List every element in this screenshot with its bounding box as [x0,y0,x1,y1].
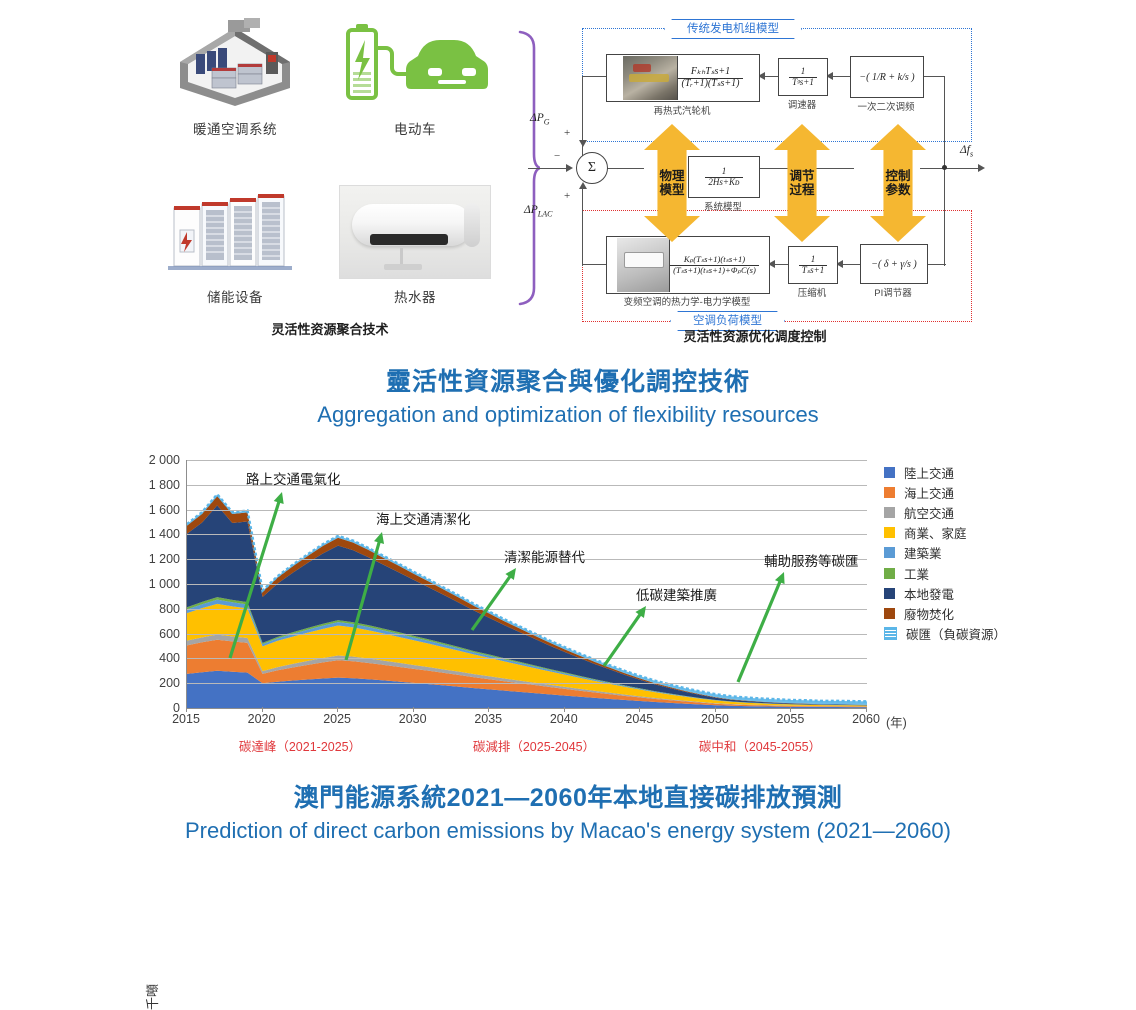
legend-swatch [884,627,897,640]
plot-area [186,460,867,709]
x-axis-tick: 2040 [550,712,578,726]
arrow-line2: 模型 [659,183,684,197]
arrow-line1: 物理 [659,169,684,183]
y-axis-tick: 2 000 [126,453,180,467]
flexibility-resource-panel: 暖通空调系统 电动车 [150,14,510,339]
gridline [187,683,867,684]
legend-swatch [884,547,895,558]
x-axis-tickmark [639,707,640,712]
annotation-low-carbon-building: 低碳建築推廣 [636,584,717,604]
legend-label: 陸上交通 [904,463,954,482]
x-axis-tickmark [337,707,338,712]
resource-label: 暖通空调系统 [150,118,320,138]
legend-label: 航空交通 [904,503,954,522]
x-axis-tick: 2015 [172,712,200,726]
block-numerator: Kₚ(Tₛs+1)(tₛs+1) [670,255,759,264]
legend-swatch [884,507,895,518]
y-axis-tick: 1 800 [126,478,180,492]
y-axis-tick: 1 400 [126,527,180,541]
legend-item-0[interactable]: 陸上交通 [884,462,1084,482]
block-denominator: 2Hs+Kᴅ [705,177,742,187]
x-axis-ticks: 2015202020252030203520402045205020552060 [186,712,886,730]
resource-label: 储能设备 [150,286,320,306]
x-axis-tickmark [413,707,414,712]
block-expression: −( 1/R + k/s ) [859,72,914,83]
block-numerator: 1 [789,67,817,76]
bottom-title-zh: 澳門能源系統2021—2060年本地直接碳排放預測 [0,778,1136,814]
annotation-ancillary-services-carbon-sink: 輔助服務等碳匯 [764,550,859,570]
y-axis-title: 千噸 [142,984,161,1010]
arrow-line1: 调节 [789,169,814,183]
x-axis-tick: 2020 [248,712,276,726]
block-denominator: Tᵍs+1 [789,77,817,87]
y-axis-tick: 200 [126,676,180,690]
x-axis-tickmark [262,707,263,712]
block-compressor: 1 Tₛs+1 [788,246,838,284]
arrow-icon [978,164,985,172]
wire [582,264,608,265]
arrow-line2: 过程 [789,183,814,197]
block-pi-regulator: −( δ + γ/s ) [860,244,928,284]
y-axis-tick: 400 [126,651,180,665]
annotation-marine-transport-cleaning: 海上交通清潔化 [376,508,471,528]
junction-dot [942,165,947,170]
x-axis-tickmark [866,707,867,712]
gridline [187,584,867,585]
block-numerator: 1 [799,255,827,264]
y-axis-ticks: 02004006008001 0001 2001 4001 6001 8002 … [120,460,180,708]
x-axis-tickmark [715,707,716,712]
legend-item-7[interactable]: 廢物焚化 [884,603,1084,623]
y-axis-tick: 1 200 [126,552,180,566]
resource-item-ev: 电动车 [330,14,500,138]
x-axis-tick: 2025 [323,712,351,726]
middle-title: 靈活性資源聚合與優化調控技術 Aggregation and optimizat… [0,362,1136,428]
legend-item-5[interactable]: 工業 [884,563,1084,583]
gridline [187,510,867,511]
block-denominator: Tₛs+1 [799,265,827,275]
resource-item-hvac: 暖通空调系统 [150,14,320,138]
hvac-room-icon [150,14,320,114]
wire [826,76,852,77]
x-axis-tickmark [790,707,791,712]
legend-label: 本地發電 [904,584,954,603]
sigma-symbol: Σ [588,160,596,176]
wire [944,182,945,266]
arrow-icon [579,140,587,147]
annotation-road-transport-electrification: 路上交通電氣化 [246,468,341,488]
x-axis-tick: 2060 [852,712,880,726]
phase-label-carbon-peak: 碳達峰（2021-2025） [239,736,361,755]
wire [606,168,644,169]
legend-swatch [884,568,895,579]
y-axis-tick: 800 [126,602,180,616]
chart-legend: 陸上交通海上交通航空交通商業、家庭建築業工業本地發電廢物焚化碳匯（負碳資源） [884,462,1084,644]
block-denominator: (Tₛs+1)(tₛs+1)+ΦₚC(s) [670,265,759,275]
legend-item-4[interactable]: 建築業 [884,543,1084,563]
x-axis-tick: 2050 [701,712,729,726]
ev-charging-icon [330,14,500,114]
input-label-plac: ΔPLAC [524,204,552,218]
block-denominator: (Tᵣ+1)(Tₛs+1) [678,78,742,90]
legend-item-8[interactable]: 碳匯（負碳資源） [884,624,1084,644]
y-axis-tick: 1 000 [126,577,180,591]
resource-label: 电动车 [330,118,500,138]
legend-swatch [884,588,895,599]
x-axis-tickmark [186,707,187,712]
wire [528,168,568,169]
ac-unit-photo [617,238,670,292]
x-axis-unit: (年) [886,712,907,731]
legend-label: 海上交通 [904,483,954,502]
sign-minus: − [554,150,560,162]
block-numerator: 1 [705,167,742,176]
wire [582,76,608,77]
legend-item-1[interactable]: 海上交通 [884,482,1084,502]
gridline [187,609,867,610]
block-caption: 压缩机 [788,285,836,299]
resource-item-ess: 储能设备 [150,182,320,306]
legend-label: 碳匯（負碳資源） [906,624,1006,643]
x-axis-tickmark [488,707,489,712]
wire [920,168,980,169]
diagram-caption: 灵活性资源优化调度控制 [520,326,990,345]
phase-label-carbon-reduction: 碳減排（2025-2045） [473,736,595,755]
sign-plus-bottom: + [564,190,570,202]
block-caption: 变频空调的热力学-电力学模型 [596,294,778,308]
block-caption: 系统模型 [688,199,758,213]
legend-swatch [884,527,895,538]
legend-label: 建築業 [904,543,942,562]
block-caption: 一次二次调频 [846,99,926,113]
top-illustration-section: 暖通空调系统 电动车 [0,0,1136,345]
wire [768,264,790,265]
x-axis-tick: 2035 [474,712,502,726]
plot-area-wrapper: 路上交通電氣化海上交通清潔化清潔能源替代低碳建築推廣輔助服務等碳匯 [186,460,866,708]
block-numerator: FₖₕTₛs+1 [678,67,742,78]
bottom-title: 澳門能源系統2021—2060年本地直接碳排放預測 Prediction of … [0,778,1136,844]
wire [922,76,944,77]
middle-title-en: Aggregation and optimization of flexibil… [0,402,1136,428]
wire [836,264,862,265]
block-expression: −( δ + γ/s ) [871,259,916,270]
sign-plus-top: + [564,127,570,139]
legend-label: 工業 [904,564,929,583]
resource-panel-caption: 灵活性资源聚合技术 [150,319,510,338]
resource-label: 热水器 [330,286,500,306]
block-caption: 再热式汽轮机 [606,103,758,117]
legend-label: 廢物焚化 [904,604,954,623]
y-axis-tick: 600 [126,627,180,641]
legend-label: 商業、家庭 [904,523,967,542]
block-vrf-ac-model: Kₚ(Tₛs+1)(tₛs+1) (Tₛs+1)(tₛs+1)+ΦₚC(s) [606,236,770,294]
block-primary-secondary-freq: −( 1/R + k/s ) [850,56,924,98]
gridline [187,634,867,635]
y-axis-tick: 1 600 [126,503,180,517]
control-block-diagram: 传统发电机组模型 空调负荷模型 FₖₕTₛs+1 (Tᵣ+1)(Tₛs+1) 再… [520,14,990,339]
legend-swatch [884,487,895,498]
battery-storage-icon [150,182,320,282]
bottom-title-en: Prediction of direct carbon emissions by… [0,818,1136,844]
middle-title-zh: 靈活性資源聚合與優化調控技術 [0,362,1136,398]
legend-item-6[interactable]: 本地發電 [884,583,1084,603]
wire [582,186,583,266]
block-governor: 1 Tᵍs+1 [778,58,828,96]
phase-label-carbon-neutral: 碳中和（2045-2055） [699,736,821,755]
legend-swatch [884,608,895,619]
block-caption: 调速器 [778,97,826,111]
block-caption: PI调节器 [856,285,930,299]
turbine-photo [623,56,678,100]
summation-node: Σ [576,152,608,184]
arrow-line1: 控制 [885,169,910,183]
resource-item-water-heater: 热水器 [330,182,500,306]
gridline [187,534,867,535]
block-system-model: 1 2Hs+Kᴅ [688,156,760,198]
arrow-icon [566,164,573,172]
x-axis-tick: 2030 [399,712,427,726]
gridline [187,460,867,461]
wire [582,76,583,166]
wire [926,264,946,265]
annotation-clean-energy-substitution: 清潔能源替代 [504,546,585,566]
block-reheat-turbine: FₖₕTₛs+1 (Tᵣ+1)(Tₛs+1) [606,54,760,102]
x-axis-tick: 2045 [625,712,653,726]
generator-model-label: 传统发电机组模型 [664,19,802,39]
emissions-chart: 02004006008001 0001 2001 4001 6001 8002 … [0,450,1136,760]
x-axis-tick: 2055 [777,712,805,726]
x-axis-tickmark [564,707,565,712]
gridline [187,658,867,659]
arrow-line2: 参数 [885,183,910,197]
legend-swatch [884,467,895,478]
input-label-pg: ΔPG [530,112,550,126]
legend-item-3[interactable]: 商業、家庭 [884,523,1084,543]
legend-item-2[interactable]: 航空交通 [884,502,1084,522]
wire [758,76,780,77]
output-label-df: Δfs [960,144,973,158]
water-heater-icon [330,182,500,282]
